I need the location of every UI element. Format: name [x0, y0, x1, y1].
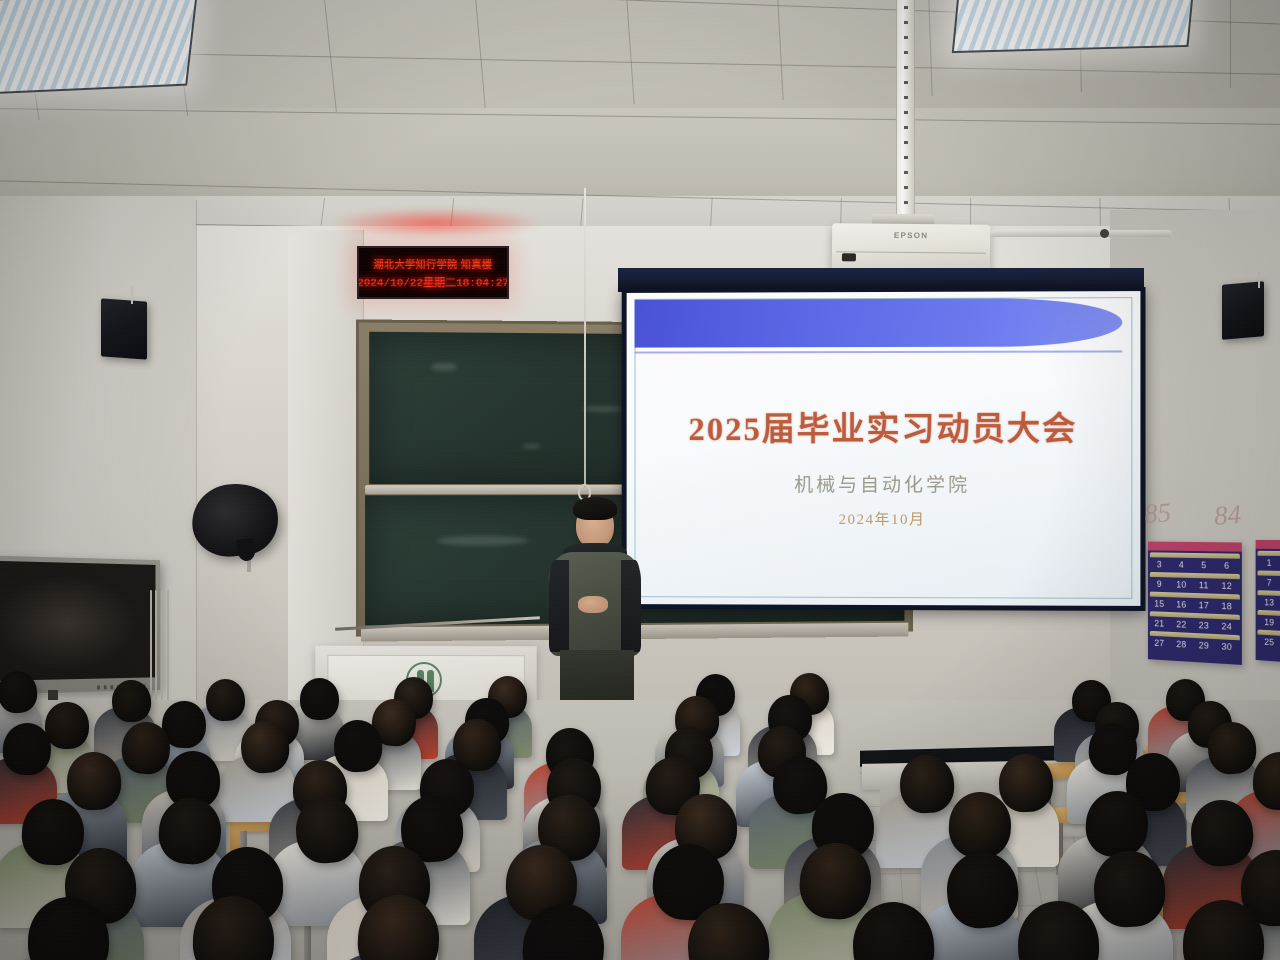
pocket-slot[interactable]: 9: [1150, 577, 1169, 592]
ceiling-light-right: [952, 0, 1194, 53]
pocket-row: 12: [1256, 551, 1280, 572]
ceiling-rod-knob: [1100, 229, 1109, 238]
pocket-slot[interactable]: 6: [1217, 558, 1237, 574]
projector-brand-label: EPSON: [832, 230, 990, 241]
pocket-slot[interactable]: 24: [1217, 619, 1237, 635]
led-board-glow: [330, 208, 540, 238]
pocket-slot[interactable]: 5: [1194, 558, 1214, 573]
ceiling-tile-line: [1230, 0, 1231, 88]
monitor-cables: [148, 590, 174, 710]
pocket-slot[interactable]: 27: [1150, 636, 1169, 652]
wall-scrawl-left: 85: [1143, 497, 1172, 530]
speaker-wire-right: [1258, 272, 1260, 288]
monitor-screen: [0, 561, 155, 681]
led-marquee-board: 湖北大学知行学院 知真楼 2024/10/22星期二18:04:27: [357, 246, 509, 299]
audience-member-head: [300, 678, 339, 720]
pocket-slot[interactable]: 1: [1257, 556, 1280, 571]
pocket-slot[interactable]: 21: [1150, 616, 1169, 632]
pocket-row: 2526: [1256, 629, 1280, 652]
slide-surface: 2025届毕业实习动员大会 机械与自动化学院 2024年10月: [627, 291, 1141, 606]
pocket-slot[interactable]: 16: [1172, 597, 1191, 613]
phone-pocket-rack-left[interactable]: 34569101112151617182122232427282930: [1148, 542, 1242, 665]
projection-screen: 2025届毕业实习动员大会 机械与自动化学院 2024年10月: [622, 287, 1146, 611]
wall-speaker-left: [101, 298, 147, 359]
presenter-hair: [573, 497, 617, 520]
pocket-slot[interactable]: 12: [1217, 579, 1237, 595]
audience-member-head: [45, 702, 89, 749]
pocket-slot[interactable]: 30: [1217, 639, 1237, 655]
pocket-slot[interactable]: 17: [1194, 598, 1214, 614]
wall-scrawl-right: 84: [1213, 499, 1242, 532]
speaker-wire-left: [131, 286, 133, 304]
pocket-slot[interactable]: 28: [1172, 637, 1191, 653]
audience-member-head: [205, 678, 245, 721]
presenter-sleeve-left: [549, 560, 569, 652]
pocket-slot[interactable]: 4: [1172, 558, 1191, 573]
pocket-slot[interactable]: 7: [1257, 575, 1280, 590]
slide-subtitle: 机械与自动化学院: [627, 470, 1141, 497]
pocket-row: 78: [1256, 570, 1280, 591]
wall-seam: [196, 200, 197, 740]
pocket-slot[interactable]: 11: [1194, 578, 1214, 594]
led-line-datetime: 2024/10/22星期二18:04:27: [357, 274, 509, 290]
pocket-slot[interactable]: 23: [1194, 618, 1214, 634]
pocket-slot[interactable]: 15: [1150, 596, 1169, 611]
pocket-slot[interactable]: 25: [1257, 635, 1280, 651]
pocket-slot[interactable]: 29: [1194, 638, 1214, 654]
projector-lens: [842, 253, 856, 261]
pocket-slot[interactable]: 10: [1172, 577, 1191, 592]
presenter-hands: [578, 596, 608, 613]
slide-date: 2024年10月: [627, 508, 1141, 530]
pocket-slot[interactable]: 3: [1150, 557, 1169, 572]
screen-pull-cord[interactable]: [584, 188, 586, 488]
pocket-slot[interactable]: 13: [1257, 595, 1280, 611]
pocket-row: 1314: [1256, 590, 1280, 612]
presenter-sleeve-right: [621, 560, 641, 652]
slide-title: 2025届毕业实习动员大会: [627, 402, 1141, 450]
wall-speaker-right: [1222, 281, 1264, 340]
lecture-hall-photo: 湖北大学知行学院 知真楼 2024/10/22星期二18:04:27 EPSON: [0, 0, 1280, 960]
pocket-row: 3456: [1148, 552, 1242, 574]
pocket-slot[interactable]: 18: [1217, 599, 1237, 615]
audience-member-head: [998, 753, 1054, 813]
slide-banner-shape: [635, 298, 1123, 347]
ceiling-light-left: [0, 0, 198, 94]
ceiling-rod: [990, 230, 1172, 237]
led-line-venue: 湖北大学知行学院 知真楼: [374, 256, 493, 271]
pocket-slot[interactable]: 19: [1257, 615, 1280, 631]
pocket-row: 27282930: [1148, 631, 1242, 656]
pocket-slot[interactable]: 22: [1172, 617, 1191, 633]
projector-mount-pole: [896, 0, 915, 222]
phone-pocket-rack-right[interactable]: 1278131419202526: [1256, 540, 1280, 664]
